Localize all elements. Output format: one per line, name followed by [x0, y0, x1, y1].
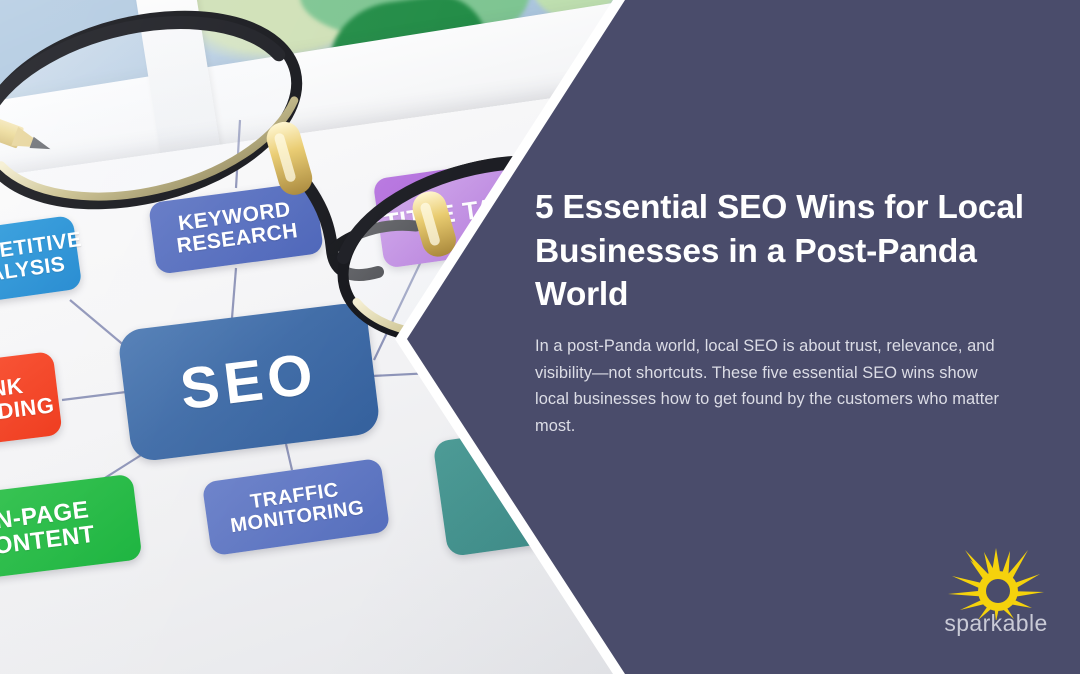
mindmap-node-label: ON-PAGE CONTENT	[0, 491, 140, 566]
page-subtitle: In a post-Panda world, local SEO is abou…	[535, 333, 1013, 441]
brand-logo[interactable]: sparkable	[930, 548, 1062, 644]
mindmap-node-label: TRAFFIC MONITORING	[204, 474, 388, 541]
brand-wordmark: sparkable	[930, 610, 1062, 637]
page-title: 5 Essential SEO Wins for Local Businesse…	[535, 186, 1063, 317]
panel-content: 5 Essential SEO Wins for Local Businesse…	[535, 186, 1063, 440]
blog-header-card: COMPETITIVE ANALYSIS LINK BUILDING ON-PA…	[0, 0, 1080, 674]
